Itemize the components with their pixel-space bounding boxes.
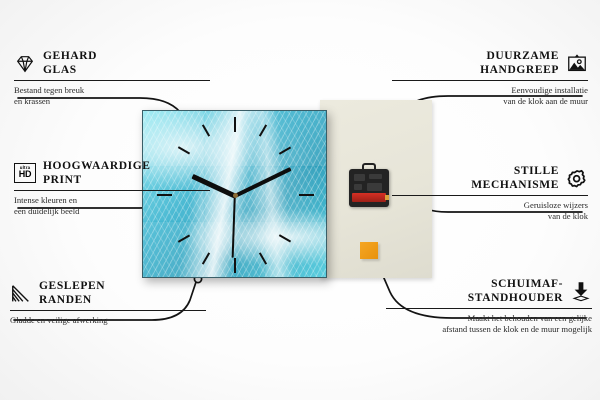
feature-title: STILLEMECHANISME xyxy=(471,165,559,192)
feature-title: GESLEPENRANDEN xyxy=(39,280,105,307)
gear-icon xyxy=(566,168,588,190)
feature-duurzame-handgreep: DUURZAMEHANDGREEP Eenvoudige installatie… xyxy=(392,50,588,107)
feature-schuimafstandhouder: SCHUIMAF-STANDHOUDER Maakt het behouden … xyxy=(386,278,592,335)
feature-title: HOOGWAARDIGEPRINT xyxy=(43,160,151,187)
mechanism-detail xyxy=(367,183,382,191)
feature-divider xyxy=(392,80,588,81)
feature-header: GEHARDGLAS xyxy=(14,50,210,77)
mechanism-detail xyxy=(354,184,362,190)
feature-header: DUURZAMEHANDGREEP xyxy=(392,50,588,77)
feature-description: Intense kleuren eneen duidelijk beeld xyxy=(14,195,210,217)
feature-divider xyxy=(10,310,206,311)
feature-geslepen-randen: GESLEPENRANDEN Gladde en veilige afwerki… xyxy=(10,280,206,326)
mechanism-detail xyxy=(369,174,382,179)
ultra-hd-icon: ultra HD xyxy=(14,163,36,185)
mechanism-detail xyxy=(354,174,365,181)
feature-header: GESLEPENRANDEN xyxy=(10,280,206,307)
beveled-edge-icon xyxy=(10,283,32,305)
feature-gehard-glas: GEHARDGLAS Bestand tegen breuken krassen xyxy=(14,50,210,107)
feature-description: Maakt het behouden van een gelijkeafstan… xyxy=(386,313,592,335)
feature-stille-mechanisme: STILLEMECHANISME Geruisloze wijzersvan d… xyxy=(392,165,588,222)
clock-mechanism xyxy=(349,169,389,207)
feature-title: DUURZAMEHANDGREEP xyxy=(480,50,559,77)
foam-spacer-pad xyxy=(360,242,378,259)
feature-divider xyxy=(14,80,210,81)
download-box-icon xyxy=(570,281,592,303)
picture-frame-icon xyxy=(566,53,588,75)
ultra-hd-icon-big-label: HD xyxy=(19,170,32,179)
feature-hoogwaardige-print: ultra HD HOOGWAARDIGEPRINT Intense kleur… xyxy=(14,160,210,217)
feature-divider xyxy=(392,195,588,196)
feature-title: SCHUIMAF-STANDHOUDER xyxy=(468,278,563,305)
feature-divider xyxy=(14,190,210,191)
clock-battery xyxy=(352,193,386,202)
feature-description: Bestand tegen breuken krassen xyxy=(14,85,210,107)
feature-description: Geruisloze wijzersvan de klok xyxy=(392,200,588,222)
feature-header: SCHUIMAF-STANDHOUDER xyxy=(386,278,592,305)
feature-title: GEHARDGLAS xyxy=(43,50,97,77)
feature-description: Gladde en veilige afwerking xyxy=(10,315,206,326)
feature-header: ultra HD HOOGWAARDIGEPRINT xyxy=(14,160,210,187)
diamond-icon xyxy=(14,53,36,75)
feature-divider xyxy=(386,308,592,309)
infographic-canvas: GEHARDGLAS Bestand tegen breuken krassen… xyxy=(0,0,600,400)
feature-description: Eenvoudige installatievan de klok aan de… xyxy=(392,85,588,107)
clock-center-pin xyxy=(233,193,238,198)
feature-header: STILLEMECHANISME xyxy=(392,165,588,192)
clock-tick xyxy=(234,117,236,132)
battery-terminal xyxy=(385,195,389,200)
clock-tick xyxy=(299,194,314,196)
clock-tick xyxy=(234,258,236,273)
mechanism-hanger xyxy=(362,163,376,171)
